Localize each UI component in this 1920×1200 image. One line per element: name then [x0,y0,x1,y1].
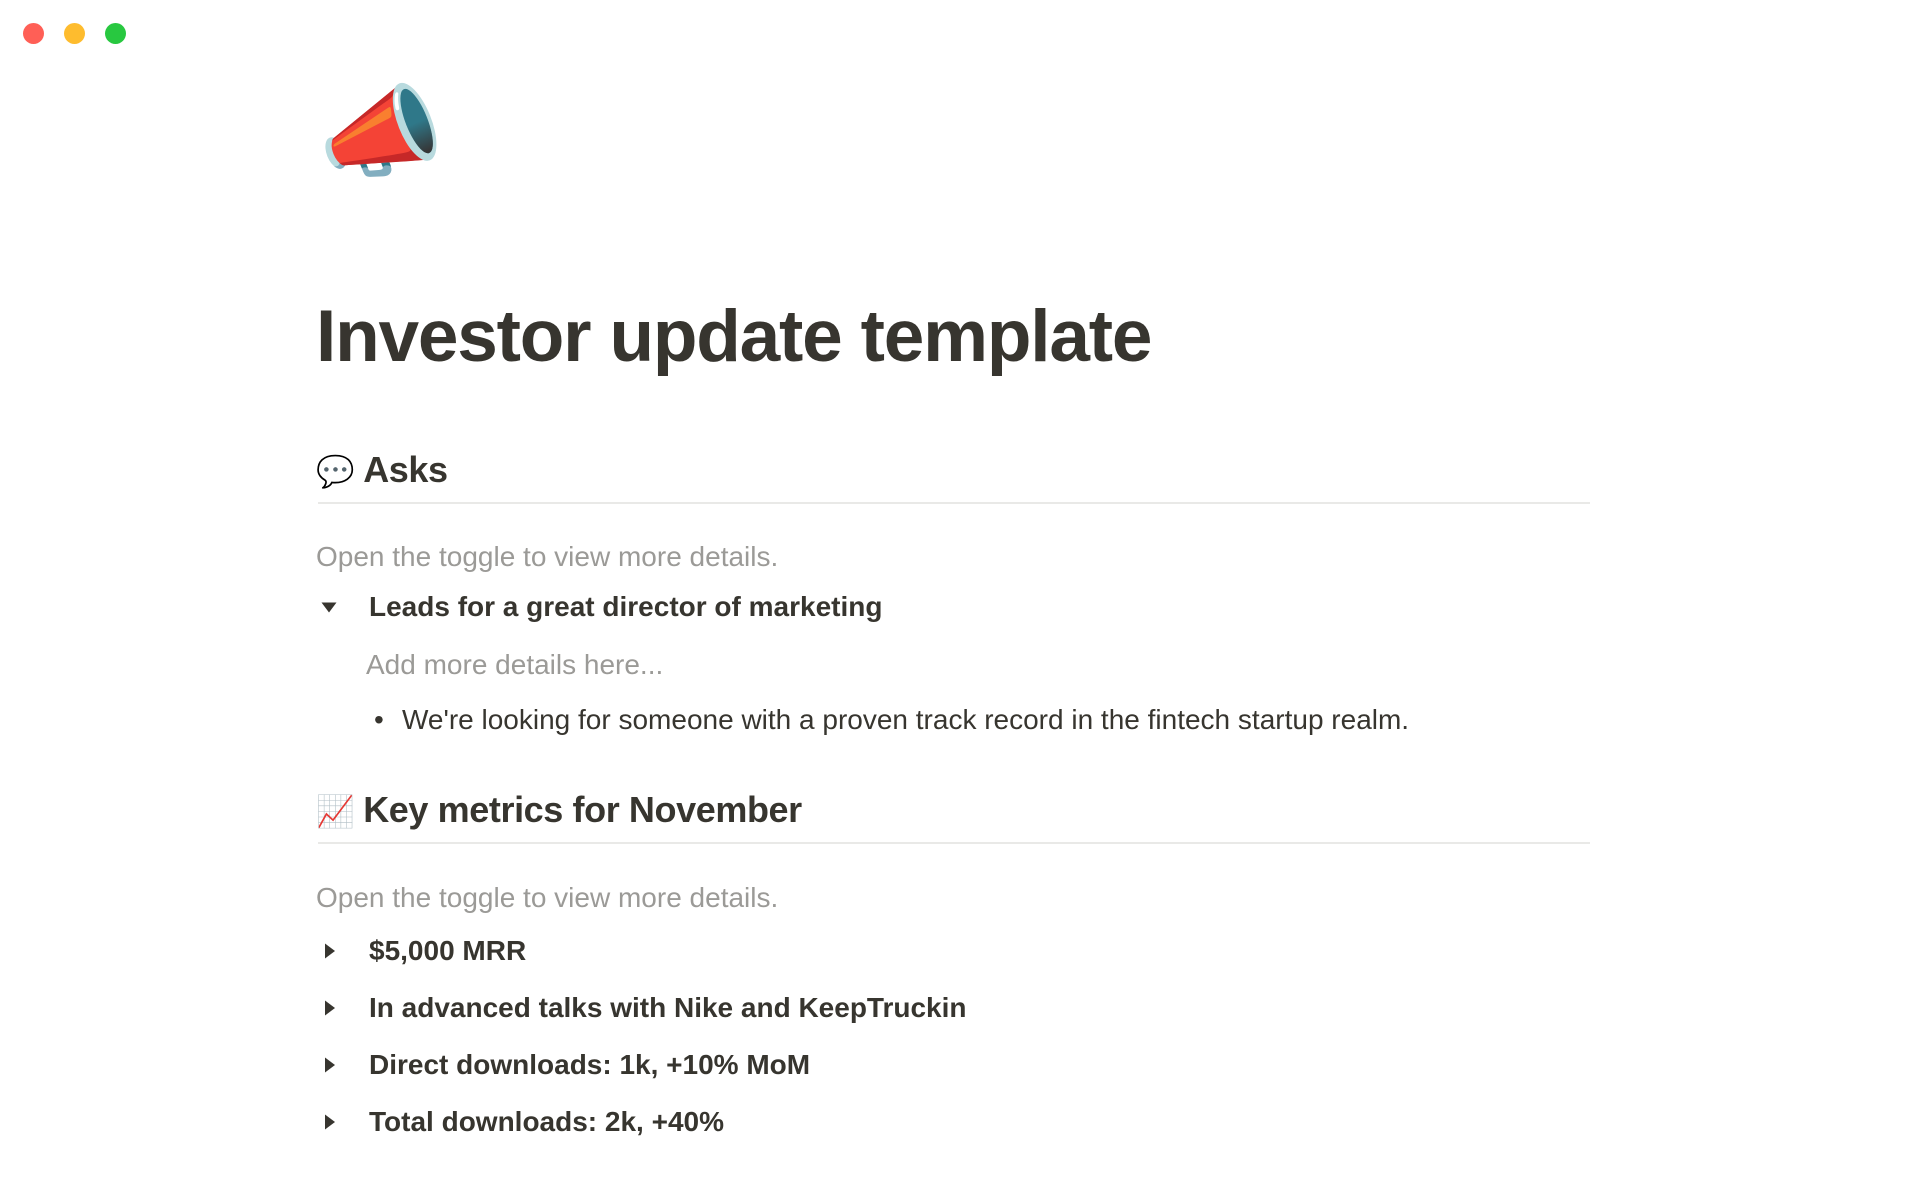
close-window-button[interactable] [23,23,44,44]
window-titlebar [0,0,1920,62]
maximize-window-button[interactable] [105,23,126,44]
asks-hint-text: Open the toggle to view more details. [316,536,778,578]
toggle-leads-director-marketing[interactable]: Leads for a great director of marketing [318,586,882,628]
section-heading-asks-label: Asks [363,448,447,492]
toggle-label[interactable]: Total downloads: 2k, +40% [369,1102,724,1141]
toggle-label[interactable]: In advanced talks with Nike and KeepTruc… [369,988,967,1027]
toggle-total-downloads[interactable]: Total downloads: 2k, +40% [318,1101,724,1143]
chevron-right-icon[interactable] [318,1111,348,1133]
speech-balloon-icon: 💬 [316,456,354,487]
section-divider-key-metrics [318,842,1590,844]
toggle-direct-downloads[interactable]: Direct downloads: 1k, +10% MoM [318,1044,810,1086]
key-metrics-hint-text: Open the toggle to view more details. [316,877,778,919]
document-page: 📣 Investor update template 💬 Asks Open t… [0,0,1920,1200]
toggle-mrr[interactable]: $5,000 MRR [318,930,526,972]
list-item-text[interactable]: We're looking for someone with a proven … [402,700,1409,739]
section-heading-key-metrics: 📈 Key metrics for November [316,788,802,832]
bullet-icon: • [374,700,402,739]
toggle-nested-hint[interactable]: Add more details here... [366,644,663,686]
chart-increasing-icon: 📈 [316,796,354,827]
toggle-advanced-talks[interactable]: In advanced talks with Nike and KeepTruc… [318,987,967,1029]
section-heading-asks: 💬 Asks [316,448,448,492]
section-heading-key-metrics-label: Key metrics for November [363,788,802,832]
chevron-right-icon[interactable] [318,997,348,1019]
chevron-down-icon[interactable] [318,596,348,618]
megaphone-emoji[interactable]: 📣 [318,83,444,184]
page-title[interactable]: Investor update template [316,300,1151,373]
traffic-light-controls [23,23,126,44]
chevron-right-icon[interactable] [318,1054,348,1076]
list-item[interactable]: • We're looking for someone with a prove… [374,700,1409,739]
chevron-right-icon[interactable] [318,940,348,962]
toggle-label[interactable]: Direct downloads: 1k, +10% MoM [369,1045,810,1084]
section-divider-asks [318,502,1590,504]
toggle-label[interactable]: $5,000 MRR [369,931,526,970]
minimize-window-button[interactable] [64,23,85,44]
toggle-label[interactable]: Leads for a great director of marketing [369,587,882,626]
